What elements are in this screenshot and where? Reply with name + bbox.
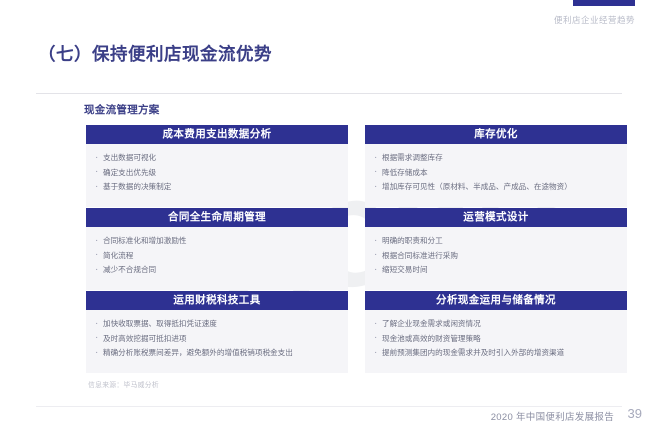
list-item: 现金池或高效的财资管理策略 (373, 332, 619, 347)
list-item: 确定支出优先级 (94, 166, 340, 181)
list-item: 支出数据可视化 (94, 151, 340, 166)
list-item: 减少不合规合同 (94, 263, 340, 278)
list-item: 基于数据的决策制定 (94, 180, 340, 195)
panel-body: 支出数据可视化 确定支出优先级 基于数据的决策制定 (86, 144, 348, 207)
list-item: 提前预测集团内的现金需求并及时引入外部的增资渠道 (373, 346, 619, 361)
panel-title: 库存优化 (365, 125, 627, 144)
panel-contract-lifecycle-management: 合同全生命周期管理 合同标准化和增加激励性 简化流程 减少不合规合同 (86, 208, 348, 290)
header-divider (36, 93, 622, 94)
footer-divider (36, 406, 622, 407)
list-item: 根据需求调整库存 (373, 151, 619, 166)
panel-title: 合同全生命周期管理 (86, 208, 348, 227)
list-item: 根据合同标准进行采购 (373, 249, 619, 264)
list-item: 精确分析账税票间差异，避免额外的增值税销项税金支出 (94, 346, 340, 361)
section-label: 现金流管理方案 (84, 102, 160, 117)
panel-cash-usage-reserve-analysis: 分析现金运用与储备情况 了解企业现金需求或闲资情况 现金池或高效的财资管理策略 … (365, 291, 627, 373)
list-item: 合同标准化和增加激励性 (94, 234, 340, 249)
panel-body: 加快收取票据、取得抵扣凭证速度 及时高效挖掘可抵扣进项 精确分析账税票间差异，避… (86, 310, 348, 373)
panel-title: 成本费用支出数据分析 (86, 125, 348, 144)
list-item: 了解企业现金需求或闲资情况 (373, 317, 619, 332)
list-item: 降低存储成本 (373, 166, 619, 181)
list-item: 明确的职责和分工 (373, 234, 619, 249)
top-accent-tab (573, 0, 635, 6)
panel-cost-expense-analysis: 成本费用支出数据分析 支出数据可视化 确定支出优先级 基于数据的决策制定 (86, 125, 348, 207)
panel-title: 分析现金运用与储备情况 (365, 291, 627, 310)
panel-body: 明确的职责和分工 根据合同标准进行采购 缩短交易时间 (365, 227, 627, 290)
list-item: 简化流程 (94, 249, 340, 264)
panel-body: 了解企业现金需求或闲资情况 现金池或高效的财资管理策略 提前预测集团内的现金需求… (365, 310, 627, 373)
panel-body: 根据需求调整库存 降低存储成本 增加库存可见性（原材料、半成品、产成品、在途物资… (365, 144, 627, 207)
page-number: 39 (628, 406, 642, 421)
list-item: 缩短交易时间 (373, 263, 619, 278)
panel-tax-technology-tools: 运用财税科技工具 加快收取票据、取得抵扣凭证速度 及时高效挖掘可抵扣进项 精确分… (86, 291, 348, 373)
panel-title: 运营模式设计 (365, 208, 627, 227)
running-head: 便利店企业经营趋势 (554, 14, 635, 26)
source-note: 信息来源：毕马威分析 (88, 379, 159, 389)
panel-body: 合同标准化和增加激励性 简化流程 减少不合规合同 (86, 227, 348, 290)
panel-grid: 成本费用支出数据分析 支出数据可视化 确定支出优先级 基于数据的决策制定 库存优… (86, 125, 627, 373)
panel-operating-model-design: 运营模式设计 明确的职责和分工 根据合同标准进行采购 缩短交易时间 (365, 208, 627, 290)
page-title: （七）保持便利店现金流优势 (38, 41, 272, 66)
list-item: 及时高效挖掘可抵扣进项 (94, 332, 340, 347)
list-item: 增加库存可见性（原材料、半成品、产成品、在途物资） (373, 180, 619, 195)
panel-title: 运用财税科技工具 (86, 291, 348, 310)
list-item: 加快收取票据、取得抵扣凭证速度 (94, 317, 340, 332)
footer-report-title: 2020 年中国便利店发展报告 (491, 409, 614, 423)
panel-inventory-optimization: 库存优化 根据需求调整库存 降低存储成本 增加库存可见性（原材料、半成品、产成品… (365, 125, 627, 207)
